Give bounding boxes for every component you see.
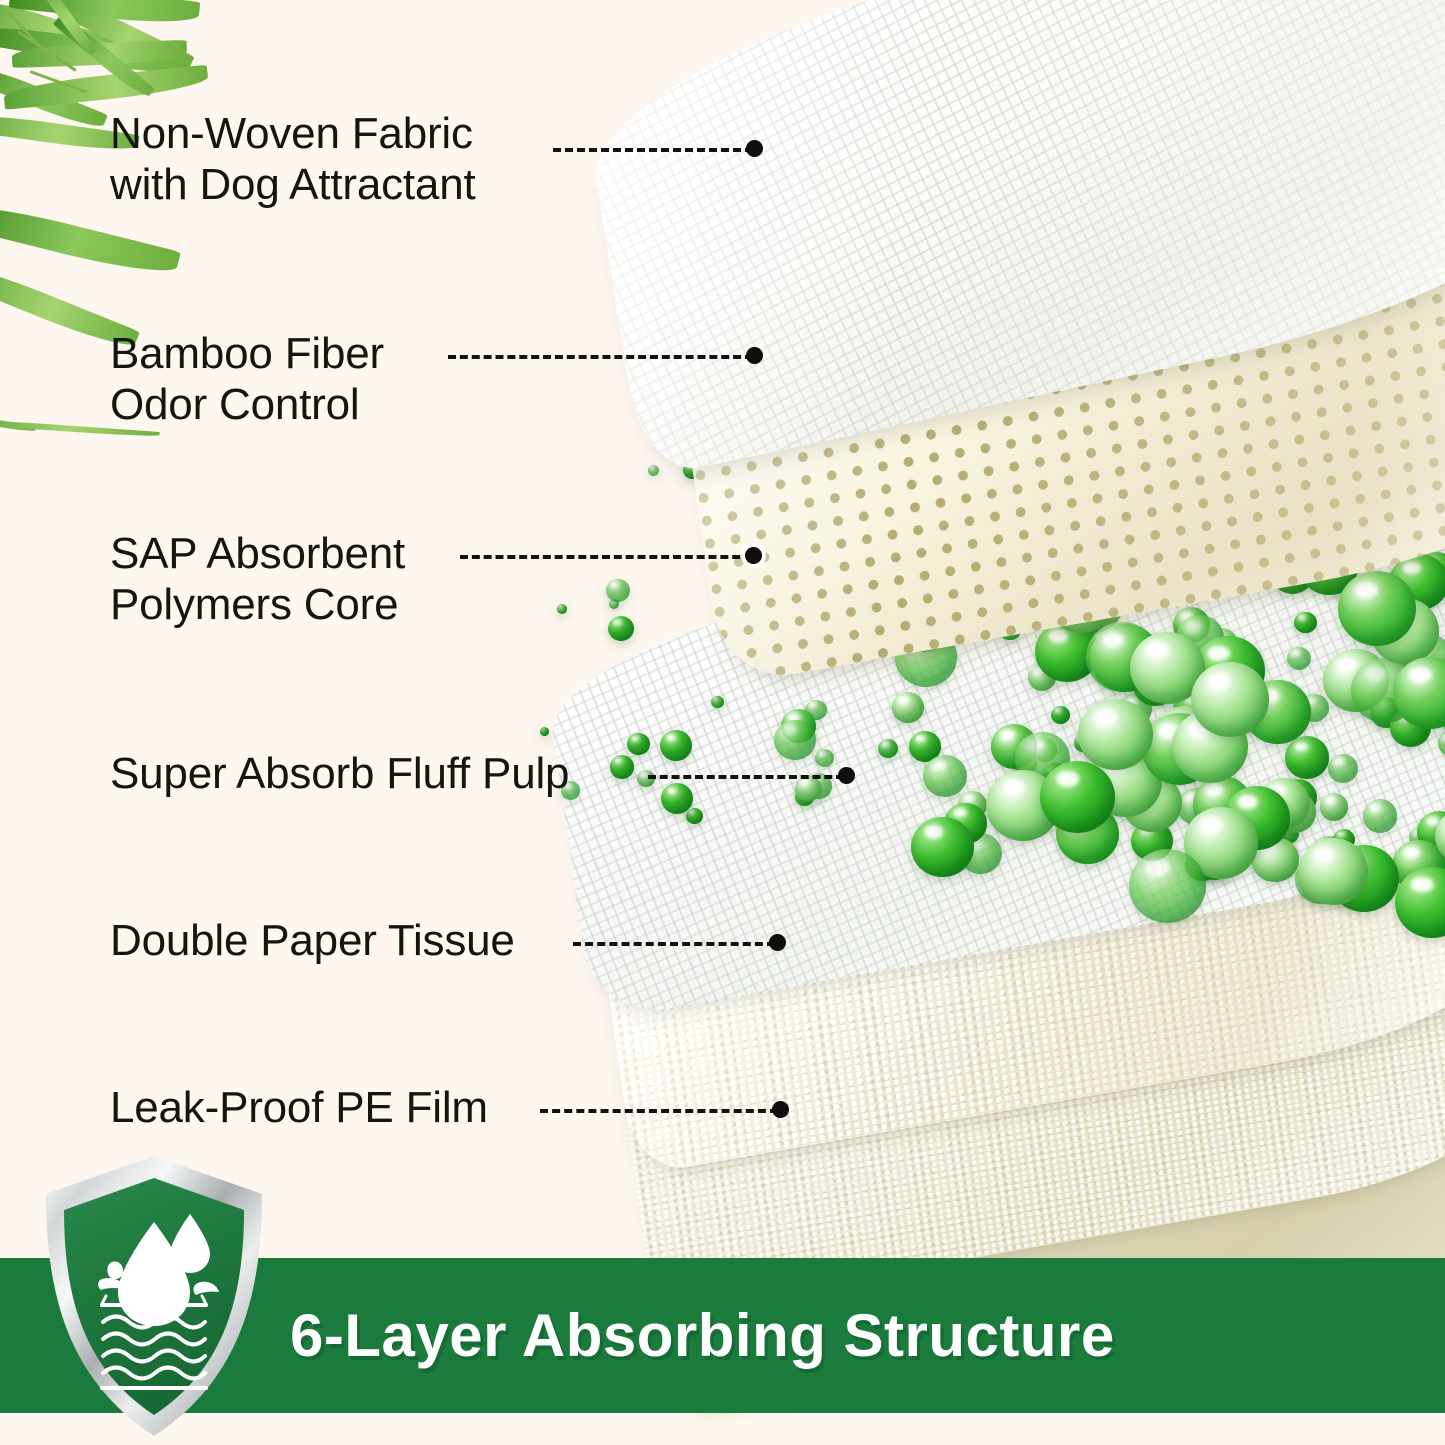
leader-line-paper-tissue	[573, 942, 775, 946]
leader-line-bamboo-fiber	[448, 355, 753, 359]
leader-dot-non-woven	[746, 140, 763, 157]
banner-title: 6-Layer Absorbing Structure	[290, 1258, 1425, 1413]
waterproof-shield-badge	[40, 1152, 268, 1440]
label-text-pe-film: Leak-Proof PE Film	[110, 1082, 488, 1133]
sap-polymer-bead	[1328, 754, 1358, 783]
label-fluff-pulp: Super Absorb Fluff Pulp	[110, 748, 569, 799]
leader-dot-sap-core	[745, 547, 762, 564]
sap-polymer-bead	[1320, 793, 1349, 821]
sap-polymer-bead	[1191, 662, 1269, 737]
sap-polymer-bead	[1363, 799, 1398, 833]
sap-polymer-bead	[911, 817, 974, 877]
leader-line-sap-core	[460, 555, 752, 559]
leader-line-non-woven	[553, 148, 753, 152]
leader-line-pe-film	[540, 1109, 778, 1113]
label-sap-core: SAP Absorbent Polymers Core	[110, 528, 405, 631]
sap-polymer-bead	[1438, 730, 1445, 755]
leader-dot-fluff-pulp	[838, 767, 855, 784]
label-paper-tissue: Double Paper Tissue	[110, 915, 515, 966]
product-infographic: Non-Woven Fabric with Dog Attractant Bam…	[0, 0, 1445, 1445]
label-text-paper-tissue: Double Paper Tissue	[110, 915, 515, 966]
sap-polymer-bead	[1129, 849, 1206, 923]
leader-dot-pe-film	[772, 1101, 789, 1118]
label-pe-film: Leak-Proof PE Film	[110, 1082, 488, 1133]
leader-line-fluff-pulp	[648, 775, 844, 779]
label-text-sap-core: SAP Absorbent Polymers Core	[110, 528, 405, 631]
sap-polymer-bead	[1051, 706, 1070, 724]
sap-polymer-bead	[923, 755, 967, 797]
leader-dot-bamboo-fiber	[746, 347, 763, 364]
label-text-non-woven: Non-Woven Fabric with Dog Attractant	[110, 108, 476, 211]
sap-polymer-bead	[1078, 699, 1153, 771]
sap-polymer-bead	[1285, 736, 1329, 779]
label-text-bamboo-fiber: Bamboo Fiber Odor Control	[110, 328, 384, 431]
sap-polymer-bead	[1338, 571, 1416, 646]
label-text-fluff-pulp: Super Absorb Fluff Pulp	[110, 748, 569, 799]
leader-dot-paper-tissue	[769, 934, 786, 951]
layer-label-column: Non-Woven Fabric with Dog Attractant Bam…	[0, 0, 900, 1260]
sap-polymer-bead	[1294, 612, 1317, 634]
sap-polymer-bead	[1299, 838, 1369, 905]
label-bamboo-fiber: Bamboo Fiber Odor Control	[110, 328, 384, 431]
label-non-woven: Non-Woven Fabric with Dog Attractant	[110, 108, 476, 211]
sap-polymer-bead	[1287, 647, 1312, 671]
